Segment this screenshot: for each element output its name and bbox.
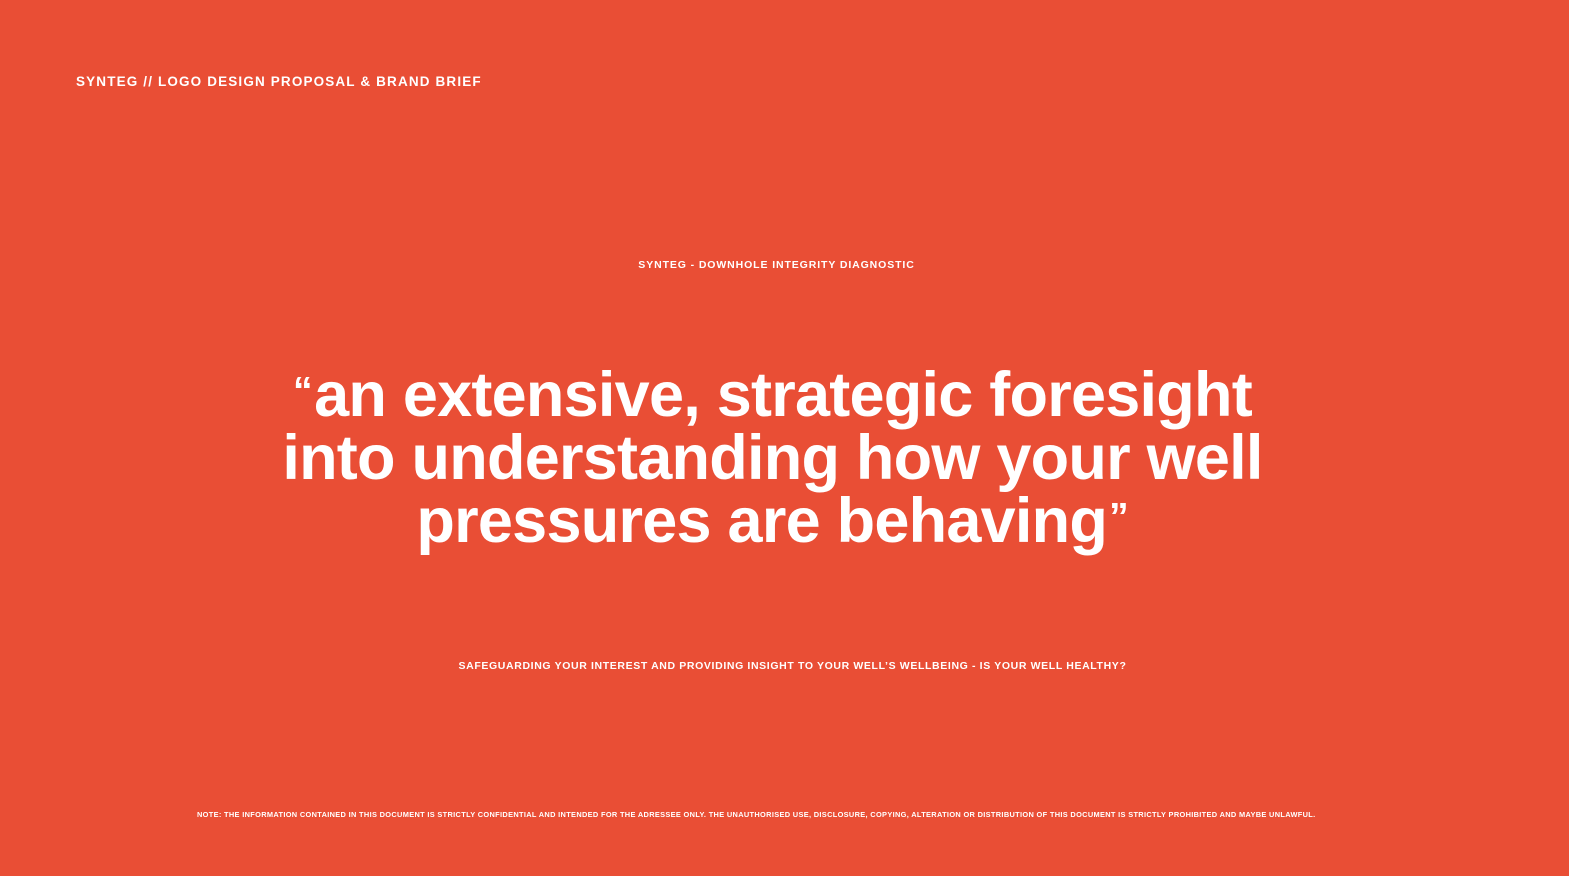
product-eyebrow: SYNTEG - DOWNHOLE INTEGRITY DIAGNOSTIC bbox=[0, 259, 1569, 272]
slide-tagline-label: SAFEGUARDING YOUR INTEREST AND PROVIDING… bbox=[458, 660, 1126, 673]
close-quote-mark: ” bbox=[1109, 496, 1129, 539]
pull-quote-text: “an extensive, strategic foresight into … bbox=[255, 364, 1290, 553]
presentation-slide: SYNTEG // LOGO DESIGN PROPOSAL & BRAND B… bbox=[0, 0, 1569, 876]
slide-header-title: SYNTEG // LOGO DESIGN PROPOSAL & BRAND B… bbox=[76, 74, 482, 90]
product-eyebrow-label: SYNTEG - DOWNHOLE INTEGRITY DIAGNOSTIC bbox=[638, 259, 914, 272]
pull-quote-line-3: are behaving bbox=[728, 486, 1108, 556]
pull-quote: “an extensive, strategic foresight into … bbox=[255, 364, 1290, 553]
slide-tagline: SAFEGUARDING YOUR INTEREST AND PROVIDING… bbox=[0, 660, 1569, 673]
confidentiality-disclaimer: NOTE: THE INFORMATION CONTAINED IN THIS … bbox=[197, 810, 1342, 821]
open-quote-mark: “ bbox=[293, 370, 313, 413]
